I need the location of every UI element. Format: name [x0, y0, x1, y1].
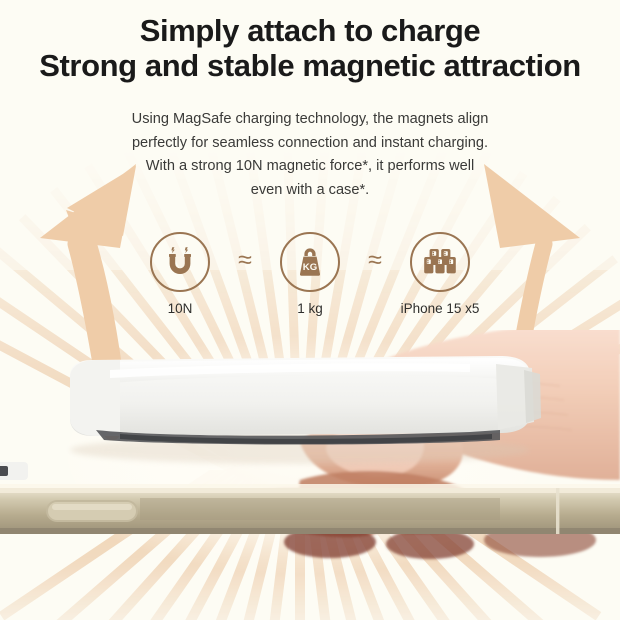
product-marketing-image: Simply attach to charge Strong and stabl…: [0, 0, 620, 620]
phone-stack-icon: [422, 245, 458, 279]
headline-line-2: Strong and stable magnetic attraction: [0, 49, 620, 84]
product-photo: [0, 330, 620, 620]
gold-titanium-iphone: [0, 484, 620, 534]
body-copy: Using MagSafe charging technology, the m…: [60, 108, 560, 203]
headline: Simply attach to charge Strong and stabl…: [0, 14, 620, 83]
kg-weight-icon: KG: [293, 245, 327, 279]
body-line-1: Using MagSafe charging technology, the m…: [60, 108, 560, 132]
phones-label: iPhone 15 x5: [401, 301, 480, 316]
white-magsafe-power-bank: [70, 356, 541, 464]
magnet-icon-circle: [150, 232, 210, 292]
magnet-label: 10N: [168, 301, 193, 316]
headline-line-1: Simply attach to charge: [0, 14, 620, 49]
weight-icon-circle: KG: [280, 232, 340, 292]
horseshoe-magnet-icon: [163, 245, 197, 279]
connector-tip: [0, 462, 28, 480]
equivalence-row: 10N ≈ KG 1 kg ≈: [0, 232, 620, 316]
phones-icon-circle: [410, 232, 470, 292]
svg-text:KG: KG: [303, 262, 317, 273]
equivalence-item-phones: iPhone 15 x5: [392, 232, 488, 316]
approx-separator-2: ≈: [358, 232, 392, 288]
weight-label: 1 kg: [297, 301, 323, 316]
approx-separator-1: ≈: [228, 232, 262, 288]
body-line-2: perfectly for seamless connection and in…: [60, 132, 560, 156]
body-line-3: With a strong 10N magnetic force*, it pe…: [60, 155, 560, 179]
equivalence-item-magnet: 10N: [132, 232, 228, 316]
equivalence-item-weight: KG 1 kg: [262, 232, 358, 316]
body-line-4: even with a case*.: [60, 179, 560, 203]
